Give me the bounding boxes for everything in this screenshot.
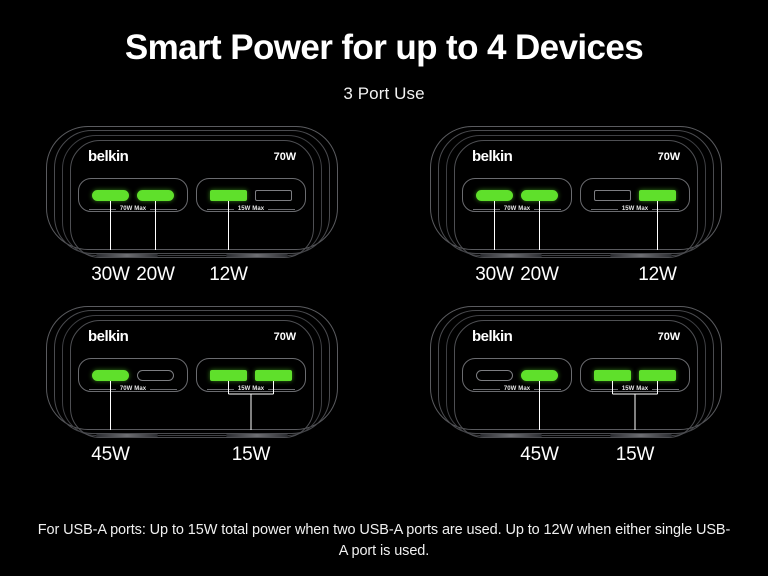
rule-line-right: [534, 389, 561, 390]
charger-foot-left: [480, 434, 542, 437]
port-area: 70W Max15W Max: [462, 358, 690, 392]
belkin-logo: belkin: [88, 328, 128, 345]
callout-label-usb-c-1: 30W: [475, 264, 513, 286]
rule-line-right: [652, 389, 679, 390]
brand-row: belkin70W: [472, 328, 680, 345]
rule-line-left: [473, 389, 500, 390]
rule-line-right: [150, 389, 177, 390]
total-wattage-label: 70W: [274, 151, 296, 163]
usb-c-port-group: 70W Max: [78, 178, 188, 212]
callout-label-usb-a-2: 12W: [638, 264, 676, 286]
rule-line-left: [207, 389, 234, 390]
port-area: 70W Max15W Max: [462, 178, 690, 212]
max-power-rule: 70W Max: [79, 206, 187, 212]
usb-a-port-2-active[interactable]: [639, 190, 676, 201]
charger-body: belkin70W70W Max15W Max: [46, 126, 338, 258]
charger-foot-left: [480, 254, 542, 257]
usb-c-max-label: 70W Max: [504, 386, 530, 392]
callout-label-usb-c-1: 45W: [91, 444, 129, 466]
callout-label-usb-c-1: 30W: [91, 264, 129, 286]
charger-foot-left: [96, 434, 158, 437]
rule-line-right: [150, 209, 177, 210]
charger-foot-right: [226, 434, 288, 437]
usb-a-port-2-active[interactable]: [639, 370, 676, 381]
max-power-rule: 15W Max: [581, 206, 689, 212]
usb-c-port-group: 70W Max: [462, 178, 572, 212]
brand-row: belkin70W: [88, 148, 296, 165]
total-wattage-label: 70W: [658, 151, 680, 163]
usb-c-port-1-inactive[interactable]: [476, 370, 513, 381]
usb-c-port-2-inactive[interactable]: [137, 370, 174, 381]
usb-a-port-group: 15W Max: [196, 178, 306, 212]
usb-a-port-2-active[interactable]: [255, 370, 292, 381]
charger-body: belkin70W70W Max15W Max: [430, 306, 722, 438]
usb-c-max-label: 70W Max: [120, 386, 146, 392]
rule-line-left: [591, 389, 618, 390]
usb-a-port-group: 15W Max: [580, 178, 690, 212]
rule-line-right: [534, 209, 561, 210]
device-diagram-4: belkin70W70W Max15W Max45W15W: [384, 306, 768, 486]
max-power-rule: 15W Max: [197, 206, 305, 212]
usb-c-port-2-active[interactable]: [521, 190, 558, 201]
device-diagram-1: belkin70W70W Max15W Max30W20W12W: [0, 126, 384, 306]
max-power-rule: 70W Max: [79, 386, 187, 392]
callout-label-usb-a-bracket: 15W: [616, 444, 654, 466]
usb-a-port-1-active[interactable]: [594, 370, 631, 381]
usb-a-max-label: 15W Max: [238, 386, 264, 392]
usb-a-max-label: 15W Max: [622, 206, 648, 212]
usb-a-port-2-inactive[interactable]: [255, 190, 292, 201]
rule-line-right: [268, 389, 295, 390]
charger-foot-right: [610, 434, 672, 437]
rule-line-left: [89, 389, 116, 390]
callout-label-usb-c-2: 45W: [520, 444, 558, 466]
usb-c-max-label: 70W Max: [120, 206, 146, 212]
rule-line-left: [207, 209, 234, 210]
page-title: Smart Power for up to 4 Devices: [0, 0, 768, 65]
max-power-rule: 70W Max: [463, 386, 571, 392]
rule-line-left: [473, 209, 500, 210]
usb-a-port-1-active[interactable]: [210, 370, 247, 381]
port-area: 70W Max15W Max: [78, 178, 306, 212]
rule-line-left: [591, 209, 618, 210]
charger-foot-right: [610, 254, 672, 257]
usb-a-port-group: 15W Max: [580, 358, 690, 392]
usb-c-port-1-active[interactable]: [92, 370, 129, 381]
belkin-logo: belkin: [472, 148, 512, 165]
usb-a-max-label: 15W Max: [622, 386, 648, 392]
usb-c-port-1-active[interactable]: [476, 190, 513, 201]
brand-row: belkin70W: [472, 148, 680, 165]
rule-line-right: [268, 209, 295, 210]
usb-c-max-label: 70W Max: [504, 206, 530, 212]
rule-line-left: [89, 209, 116, 210]
max-power-rule: 15W Max: [581, 386, 689, 392]
page-subtitle: 3 Port Use: [0, 84, 768, 104]
brand-row: belkin70W: [88, 328, 296, 345]
belkin-logo: belkin: [472, 328, 512, 345]
total-wattage-label: 70W: [658, 331, 680, 343]
charger-foot-right: [226, 254, 288, 257]
belkin-logo: belkin: [88, 148, 128, 165]
usb-c-port-2-active[interactable]: [137, 190, 174, 201]
callout-label-usb-a-bracket: 15W: [232, 444, 270, 466]
usb-c-port-2-active[interactable]: [521, 370, 558, 381]
port-area: 70W Max15W Max: [78, 358, 306, 392]
usb-a-port-group: 15W Max: [196, 358, 306, 392]
usb-a-max-label: 15W Max: [238, 206, 264, 212]
usb-a-port-1-active[interactable]: [210, 190, 247, 201]
charger-foot-left: [96, 254, 158, 257]
usb-c-port-group: 70W Max: [78, 358, 188, 392]
charger-body: belkin70W70W Max15W Max: [46, 306, 338, 438]
usb-c-port-1-active[interactable]: [92, 190, 129, 201]
total-wattage-label: 70W: [274, 331, 296, 343]
max-power-rule: 15W Max: [197, 386, 305, 392]
charger-body: belkin70W70W Max15W Max: [430, 126, 722, 258]
usb-a-port-1-inactive[interactable]: [594, 190, 631, 201]
max-power-rule: 70W Max: [463, 206, 571, 212]
footnote-text: For USB-A ports: Up to 15W total power w…: [0, 520, 768, 562]
device-diagram-grid: belkin70W70W Max15W Max30W20W12Wbelkin70…: [0, 126, 768, 486]
callout-label-usb-a-1: 12W: [209, 264, 247, 286]
device-diagram-3: belkin70W70W Max15W Max45W15W: [0, 306, 384, 486]
usb-c-port-group: 70W Max: [462, 358, 572, 392]
callout-label-usb-c-2: 20W: [520, 264, 558, 286]
device-diagram-2: belkin70W70W Max15W Max30W20W12W: [384, 126, 768, 306]
rule-line-right: [652, 209, 679, 210]
callout-label-usb-c-2: 20W: [136, 264, 174, 286]
